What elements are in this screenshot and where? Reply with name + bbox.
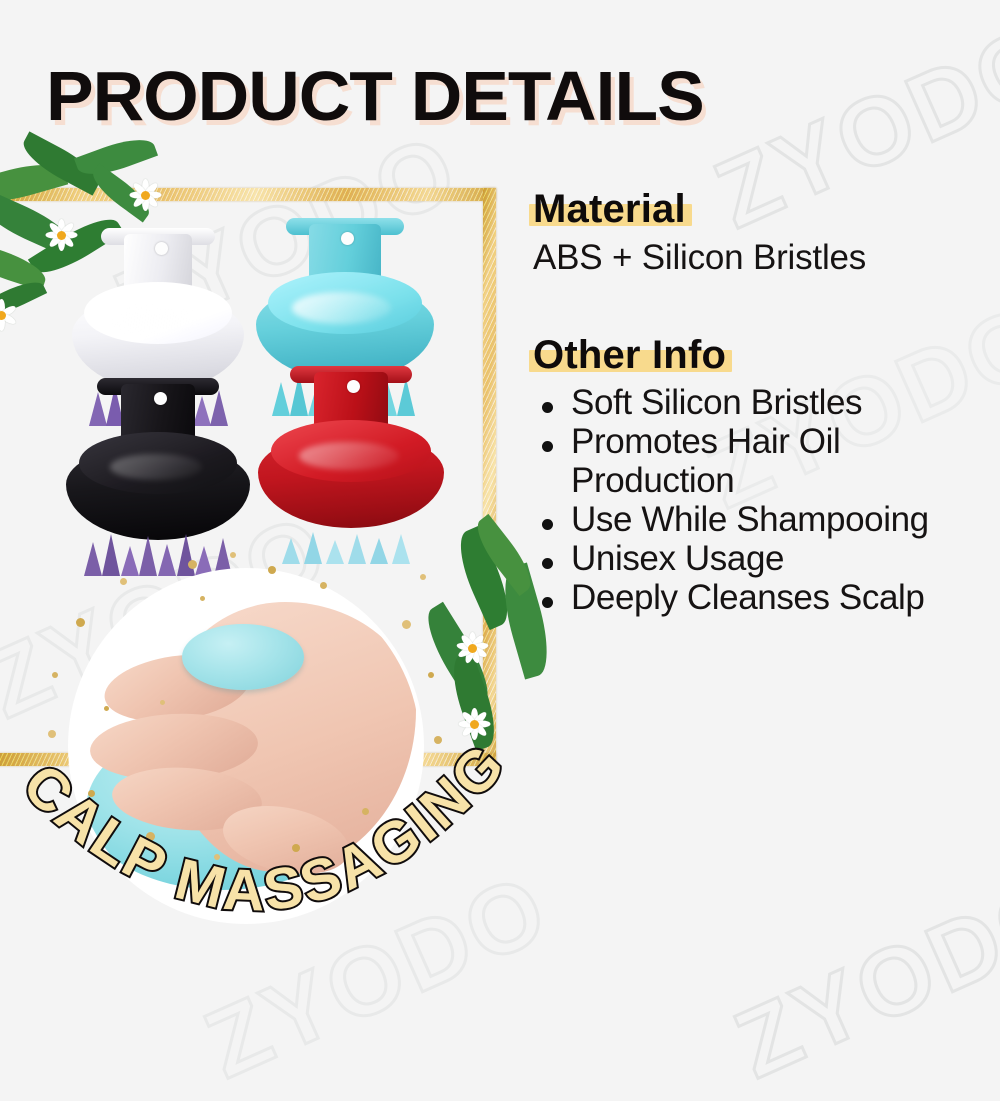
daisy-icon (452, 628, 492, 668)
other-info-heading: Other Info (533, 334, 726, 376)
banner-text: SCALP MASSAGING (0, 742, 510, 924)
frame-top-line (0, 188, 496, 201)
material-heading: Material (533, 188, 686, 230)
list-item: Promotes Hair Oil Production (533, 423, 993, 499)
product-red-scalp-brush (258, 400, 444, 578)
list-item: Unisex Usage (533, 540, 993, 578)
bristles (81, 530, 236, 576)
confetti-dot (188, 560, 197, 569)
product-black-scalp-brush (66, 412, 250, 588)
confetti-dot (268, 566, 276, 574)
massager-pad-small (182, 624, 304, 690)
confetti-dot (48, 730, 56, 738)
daisy-icon (456, 706, 492, 742)
confetti-dot (200, 596, 205, 601)
confetti-dot (160, 700, 165, 705)
daisy-icon (0, 300, 16, 330)
list-item: Soft Silicon Bristles (533, 384, 993, 422)
confetti-dot (52, 672, 58, 678)
bristles (273, 518, 429, 564)
confetti-dot (420, 574, 426, 580)
scalp-massaging-banner: SCALP MASSAGING (0, 742, 510, 1000)
daisy-icon (44, 218, 78, 252)
list-item: Use While Shampooing (533, 501, 993, 539)
other-info-heading-label: Other Info (533, 333, 726, 377)
daisy-icon (128, 178, 162, 212)
confetti-dot (320, 582, 327, 589)
other-info-list: Soft Silicon Bristles Promotes Hair Oil … (533, 384, 993, 617)
page-title: PRODUCT DETAILS (46, 56, 704, 136)
watermark-5: ZYODO (720, 853, 1000, 1100)
material-value: ABS + Silicon Bristles (533, 237, 993, 278)
infographic-canvas: ZYODO ZYODO ZYODO ZYODO ZYODO ZYODO PROD… (0, 0, 1000, 1000)
confetti-dot (120, 578, 127, 585)
list-item: Deeply Cleanses Scalp (533, 579, 993, 617)
confetti-dot (76, 618, 85, 627)
confetti-dot (104, 706, 109, 711)
confetti-dot (402, 620, 411, 629)
confetti-dot (230, 552, 236, 558)
material-heading-label: Material (533, 187, 686, 231)
confetti-dot (428, 672, 434, 678)
details-panel: Material ABS + Silicon Bristles Other In… (533, 188, 993, 618)
